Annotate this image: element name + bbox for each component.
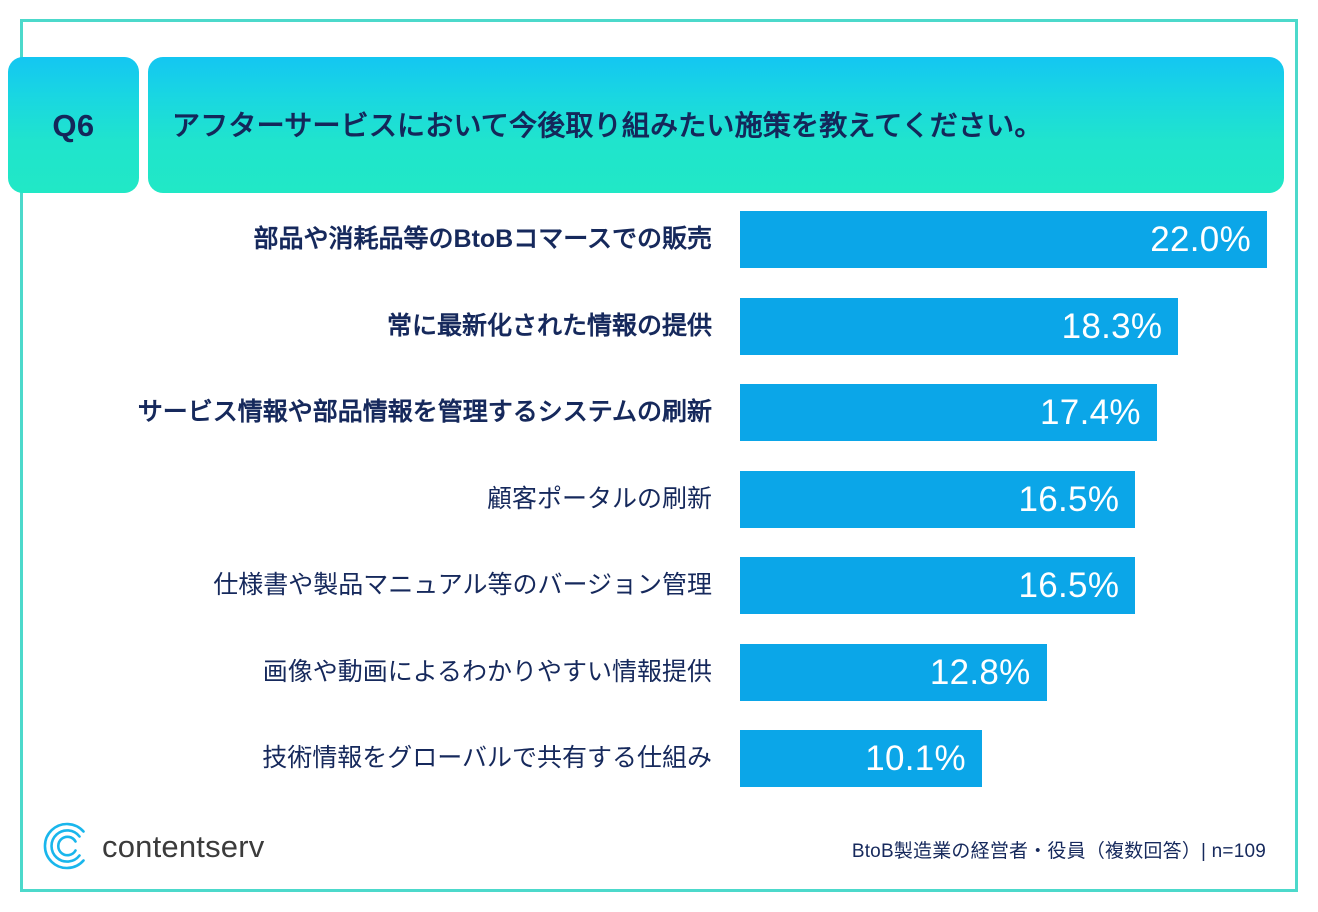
category-label: 仕様書や製品マニュアル等のバージョン管理 — [60, 557, 712, 614]
bar: 18.3% — [740, 298, 1178, 355]
horizontal-bar-chart: 部品や消耗品等のBtoBコマースでの販売22.0%常に最新化された情報の提供18… — [0, 211, 1318, 801]
bar: 22.0% — [740, 211, 1267, 268]
bar: 12.8% — [740, 644, 1047, 701]
bar-value-label: 18.3% — [1062, 309, 1163, 344]
chart-row: 顧客ポータルの刷新16.5% — [0, 471, 1318, 528]
bar-value-label: 16.5% — [1019, 568, 1120, 603]
slide-canvas: Q6 アフターサービスにおいて今後取り組みたい施策を教えてください。 部品や消耗… — [0, 0, 1318, 912]
question-title-banner: アフターサービスにおいて今後取り組みたい施策を教えてください。 — [148, 57, 1284, 193]
bar-value-label: 22.0% — [1150, 222, 1251, 257]
category-label: 部品や消耗品等のBtoBコマースでの販売 — [60, 211, 712, 268]
bar-value-label: 10.1% — [865, 741, 966, 776]
bar-value-label: 12.8% — [930, 655, 1031, 690]
slide-footer: contentserv BtoB製造業の経営者・役員（複数回答）| n=109 — [0, 810, 1318, 890]
chart-row: 画像や動画によるわかりやすい情報提供12.8% — [0, 644, 1318, 701]
question-title-text: アフターサービスにおいて今後取り組みたい施策を教えてください。 — [172, 108, 1043, 143]
chart-row: サービス情報や部品情報を管理するシステムの刷新17.4% — [0, 384, 1318, 441]
category-label: 常に最新化された情報の提供 — [60, 298, 712, 355]
chart-row: 部品や消耗品等のBtoBコマースでの販売22.0% — [0, 211, 1318, 268]
category-label: 顧客ポータルの刷新 — [60, 471, 712, 528]
bar: 16.5% — [740, 557, 1135, 614]
bar-value-label: 17.4% — [1040, 395, 1141, 430]
chart-row: 技術情報をグローバルで共有する仕組み10.1% — [0, 730, 1318, 787]
question-number-badge: Q6 — [8, 57, 139, 193]
bar: 16.5% — [740, 471, 1135, 528]
question-header: Q6 アフターサービスにおいて今後取り組みたい施策を教えてください。 — [0, 57, 1318, 193]
survey-footnote: BtoB製造業の経営者・役員（複数回答）| n=109 — [852, 836, 1266, 863]
question-number-label: Q6 — [52, 110, 94, 141]
chart-row: 仕様書や製品マニュアル等のバージョン管理16.5% — [0, 557, 1318, 614]
brand-logo: contentserv — [38, 820, 264, 872]
chart-row: 常に最新化された情報の提供18.3% — [0, 298, 1318, 355]
category-label: サービス情報や部品情報を管理するシステムの刷新 — [60, 384, 712, 441]
category-label: 画像や動画によるわかりやすい情報提供 — [60, 644, 712, 701]
contentserv-c-icon — [38, 820, 90, 872]
category-label: 技術情報をグローバルで共有する仕組み — [60, 730, 712, 787]
bar: 17.4% — [740, 384, 1157, 441]
brand-wordmark: contentserv — [102, 831, 264, 862]
bar-value-label: 16.5% — [1019, 482, 1120, 517]
bar: 10.1% — [740, 730, 982, 787]
